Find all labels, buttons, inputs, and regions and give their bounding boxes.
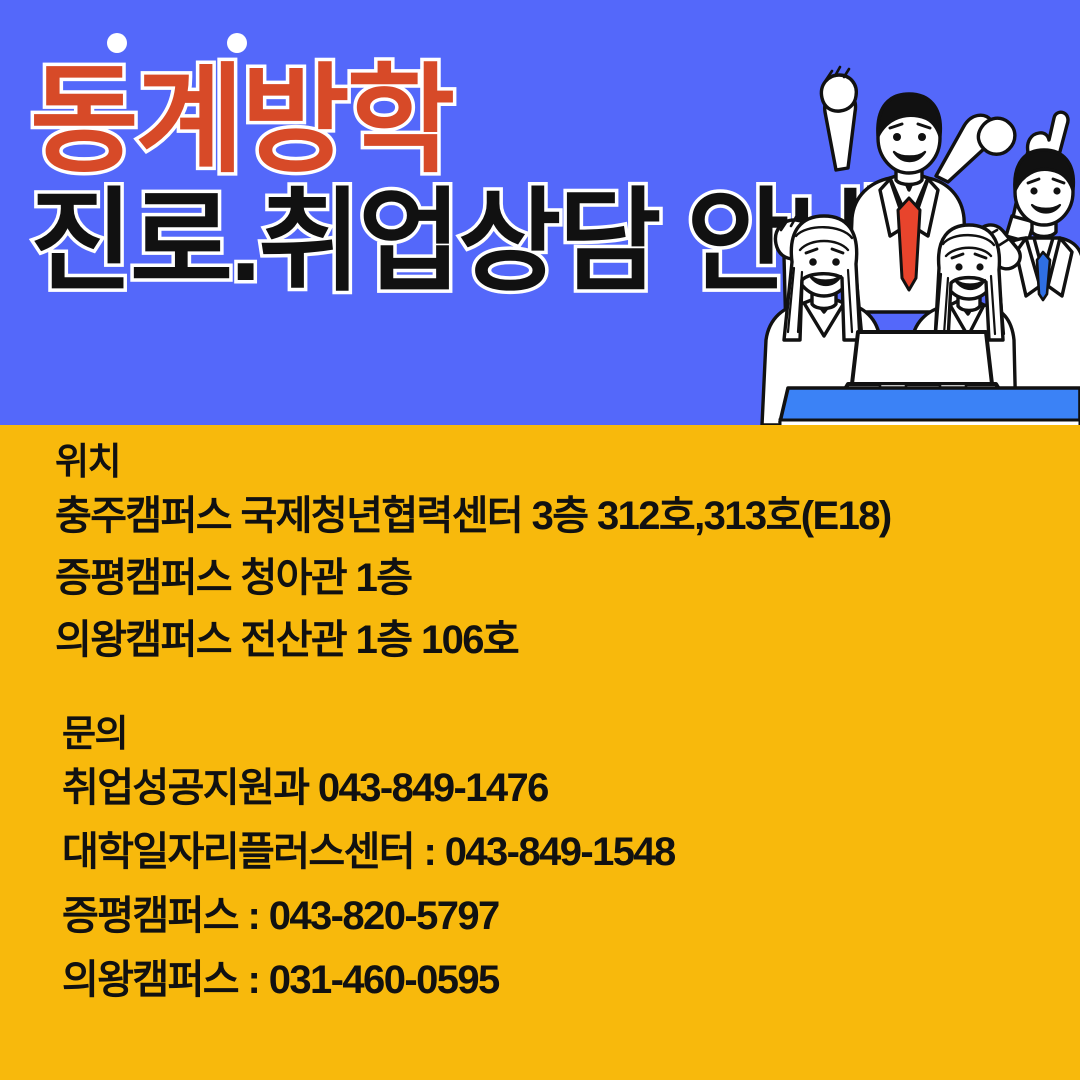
location-heading: 위치: [0, 443, 1080, 482]
contact-heading: 문의: [0, 715, 1080, 754]
location-list: 충주캠퍼스 국제청년협력센터 3층 312호,313호(E18) 증평캠퍼스 청…: [0, 496, 1080, 682]
list-item: 충주캠퍼스 국제청년협력센터 3층 312호,313호(E18): [0, 496, 1080, 558]
contact-section: 문의 취업성공지원과 043-849-1476 대학일자리플러스센터 : 043…: [0, 715, 1080, 1024]
title-line-primary: 동계방학: [30, 62, 860, 180]
desk: [780, 388, 1080, 425]
list-item: 증평캠퍼스 : 043-820-5797: [0, 896, 1080, 960]
laptop-icon: [842, 332, 1002, 394]
list-item: 의왕캠퍼스 : 031-460-0595: [0, 960, 1080, 1024]
title-line-secondary: 진로.취업상담 안내: [30, 186, 860, 298]
poster-root: 동계방학 진로.취업상담 안내: [0, 0, 1080, 1080]
decor-dot-icon: [107, 33, 127, 53]
list-item: 대학일자리플러스센터 : 043-849-1548: [0, 832, 1080, 896]
list-item: 취업성공지원과 043-849-1476: [0, 768, 1080, 832]
location-section: 위치 충주캠퍼스 국제청년협력센터 3층 312호,313호(E18) 증평캠퍼…: [0, 443, 1080, 682]
hero-banner: 동계방학 진로.취업상담 안내: [0, 0, 1080, 425]
contact-list: 취업성공지원과 043-849-1476 대학일자리플러스센터 : 043-84…: [0, 768, 1080, 1024]
poster-title: 동계방학 진로.취업상담 안내: [30, 62, 860, 298]
info-panel: 위치 충주캠퍼스 국제청년협력센터 3층 312호,313호(E18) 증평캠퍼…: [0, 425, 1080, 1080]
celebrating-team-graphic: [740, 40, 1080, 425]
celebrating-team-illustration: [740, 40, 1080, 425]
decor-dot-icon: [227, 33, 247, 53]
list-item: 증평캠퍼스 청아관 1층: [0, 558, 1080, 620]
list-item: 의왕캠퍼스 전산관 1층 106호: [0, 620, 1080, 682]
